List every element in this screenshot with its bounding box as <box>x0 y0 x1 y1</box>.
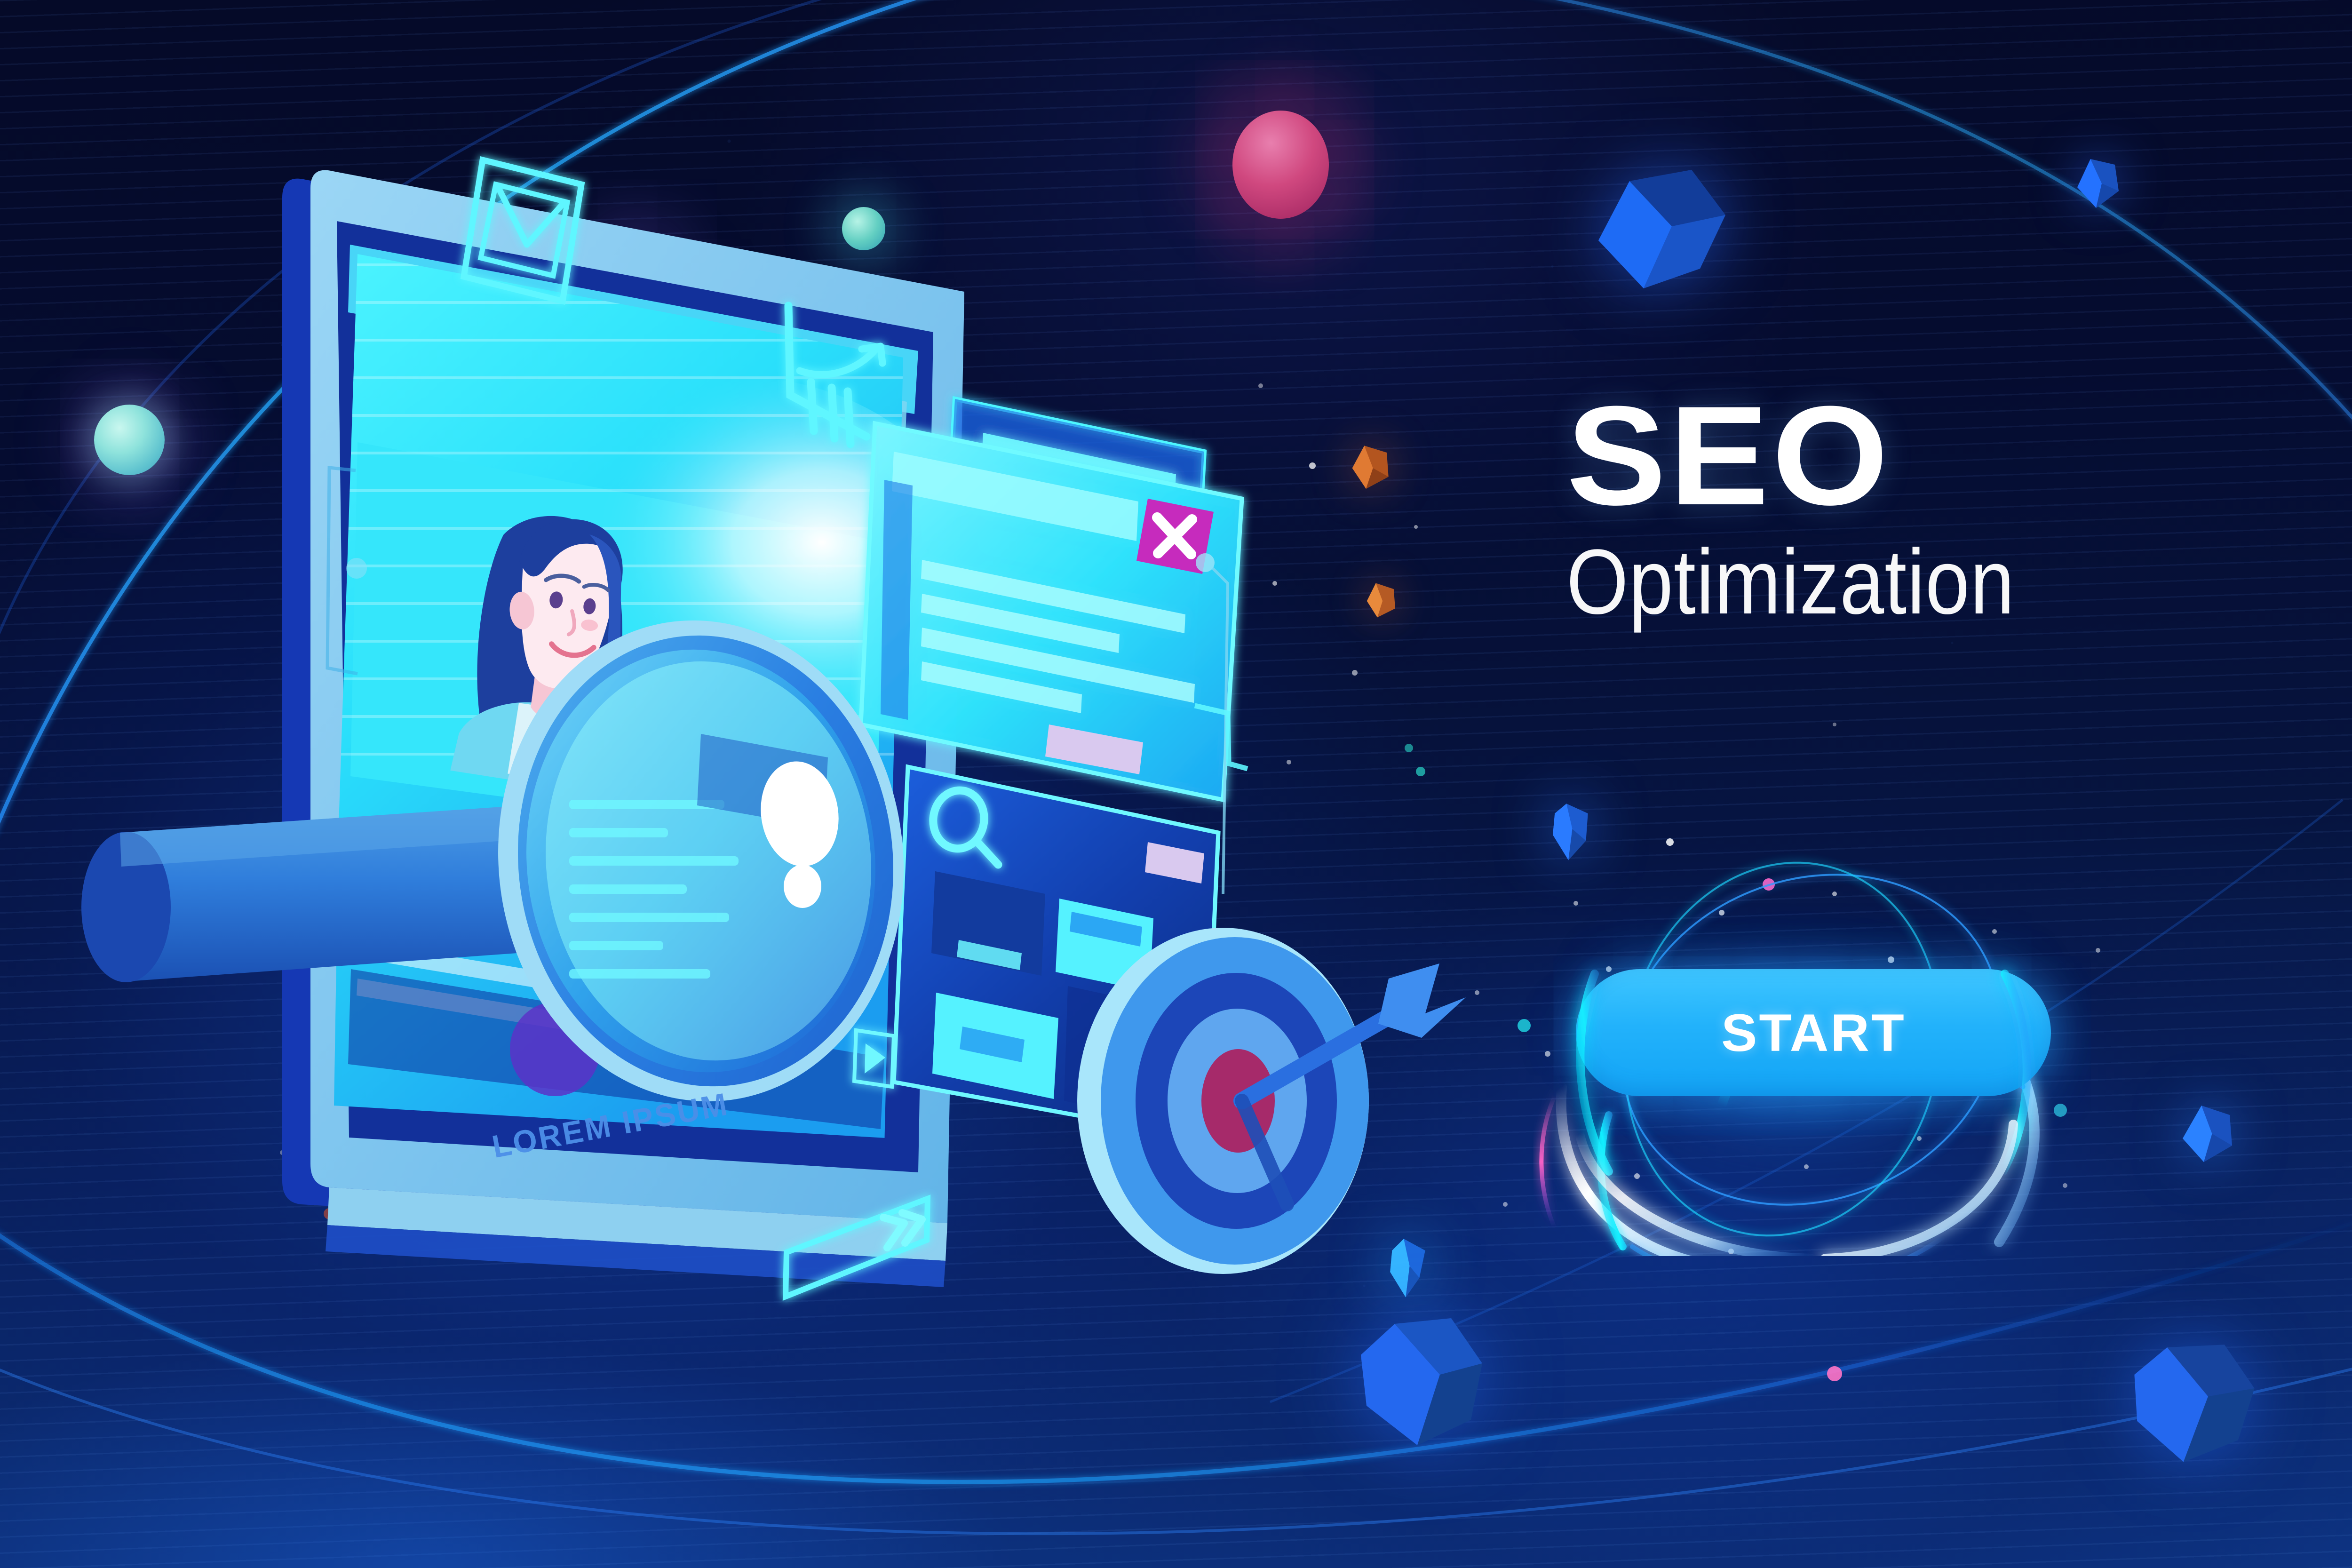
seo-landing-illustration: LOREM IPSUM SEO Optimization <box>0 0 2352 1568</box>
start-button-label: START <box>1721 1003 1906 1063</box>
target-icon <box>1077 928 1466 1274</box>
page-title: SEO <box>1566 390 2314 520</box>
headline-block: SEO Optimization <box>1566 390 2272 614</box>
cta-zone: START <box>1454 833 2140 1256</box>
start-button[interactable]: START <box>1576 969 2051 1096</box>
seo-illustration-group <box>0 0 2352 1568</box>
page-subtitle: Optimization <box>1566 536 2286 629</box>
lens-highlight-small <box>784 865 821 908</box>
